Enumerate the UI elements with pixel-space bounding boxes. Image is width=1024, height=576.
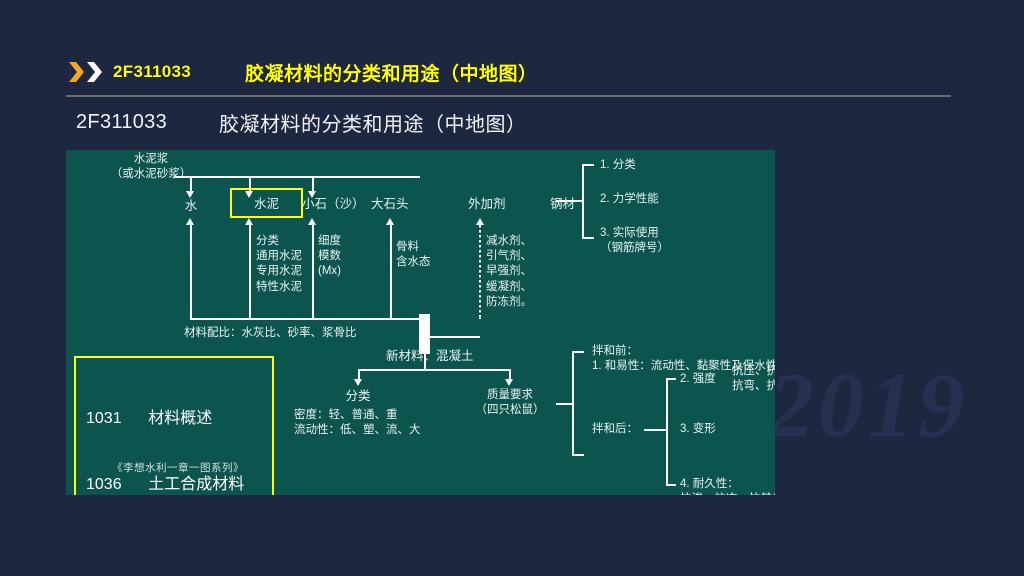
- key-box-line-2: 1036 土工合成材料: [86, 474, 262, 495]
- key-box-line-1: 1031 材料概述: [86, 408, 262, 430]
- connector-aftermix-stem: [644, 429, 666, 431]
- node-durability: 4. 耐久性： 抗渗、抗冻、抗其他: [680, 477, 775, 495]
- steel-item-3: 3. 实际使用 （钢筋牌号）: [600, 226, 669, 256]
- arrow-up-smallstone: [308, 218, 316, 225]
- header-divider: [66, 95, 951, 97]
- bracket-steel-spine: [582, 164, 584, 238]
- bracket-quality-bottom: [572, 454, 584, 456]
- node-slurry: 水泥浆 （或水泥砂浆）: [96, 152, 206, 182]
- bracket-aftermix-spine: [666, 378, 668, 485]
- bracket-steel-top: [582, 164, 594, 166]
- connector-up-admixture-dotted: [479, 225, 481, 319]
- arrow-down-quality: [505, 379, 513, 386]
- connector-up-smallstone: [312, 225, 314, 319]
- arrow-down-classify: [354, 379, 362, 386]
- arrow-up-admixture: [476, 218, 484, 225]
- node-quality: 质量要求 （四只松鼠）: [464, 388, 556, 418]
- steel-item-2: 2. 力学性能: [600, 192, 659, 207]
- bracket-aftermix-bottom: [666, 484, 676, 486]
- chevron-right-white-icon: [86, 61, 103, 83]
- connector-steel-stem: [556, 200, 582, 202]
- connector-concrete-stem: [424, 354, 426, 370]
- subheader-code: 2F311033: [76, 111, 167, 134]
- arrow-up-cement: [245, 218, 253, 225]
- node-water: 水: [176, 198, 206, 215]
- node-deform: 3. 变形: [680, 422, 716, 437]
- node-cement: 水泥: [232, 196, 301, 213]
- bracket-quality-spine: [572, 351, 574, 455]
- header-title: 胶凝材料的分类和用途（中地图）: [245, 59, 538, 86]
- node-fineness: 细度 模数 (Mx): [318, 234, 341, 280]
- connector-up-water: [190, 225, 192, 319]
- node-classify-detail: 密度：轻、普通、重 流动性：低、塑、流、大: [294, 408, 421, 438]
- node-after-mix: 拌和后：: [592, 422, 638, 437]
- node-mix-ratio: 材料配比：水灰比、砂率、浆骨比: [184, 326, 357, 341]
- subheader: 2F311033 胶凝材料的分类和用途（中地图）: [76, 108, 527, 137]
- connector-top-bus: [174, 176, 420, 178]
- bracket-quality-top: [572, 351, 584, 353]
- node-small-stone: 小石（沙）: [302, 196, 365, 213]
- steel-item-1: 1. 分类: [600, 158, 636, 173]
- node-aggregate: 骨料 含水态: [396, 240, 431, 270]
- slide-header: 2F311033 胶凝材料的分类和用途（中地图）: [68, 58, 538, 86]
- node-new-material: 新材料：混凝土: [386, 348, 474, 365]
- node-cement-detail: 分类 通用水泥 专用水泥 特性水泥: [256, 234, 302, 295]
- bracket-aftermix-top: [666, 378, 676, 380]
- chevron-right-orange-icon: [68, 61, 85, 83]
- connector-up-bigstone: [390, 225, 392, 319]
- node-admixture-list: 减水剂、 引气剂、 早强剂、 缓凝剂、 防冻剂。: [486, 234, 532, 310]
- connector-concrete-split: [358, 369, 510, 371]
- arrow-down-water: [186, 191, 194, 198]
- arrow-up-water: [186, 218, 194, 225]
- connector-up-cement: [249, 225, 251, 319]
- connector-quality-stem: [556, 403, 572, 405]
- subheader-title: 胶凝材料的分类和用途（中地图）: [219, 108, 527, 137]
- connector-admixture-foot: [479, 318, 481, 319]
- node-strength-detail: 抗压、抗拉 抗弯、抗剪: [732, 364, 775, 394]
- node-steel: 钢材: [550, 196, 575, 213]
- diagram-footer: 《李想水利一章一图系列》: [112, 460, 244, 475]
- bracket-steel-bottom: [582, 237, 594, 239]
- connector-mixratio-bus: [190, 318, 422, 320]
- header-code: 2F311033: [113, 62, 191, 82]
- watermark-year: 2019: [768, 352, 968, 458]
- node-admixture: 外加剂: [468, 196, 506, 213]
- diagram-panel: 水泥浆 （或水泥砂浆） 水 水泥 小石（沙） 大石头 外加剂 钢材 分类 通用水…: [66, 150, 775, 495]
- node-strength: 2. 强度: [680, 372, 716, 387]
- arrow-up-bigstone: [386, 218, 394, 225]
- node-big-stone: 大石头: [371, 196, 409, 213]
- node-classify: 分类: [332, 388, 384, 405]
